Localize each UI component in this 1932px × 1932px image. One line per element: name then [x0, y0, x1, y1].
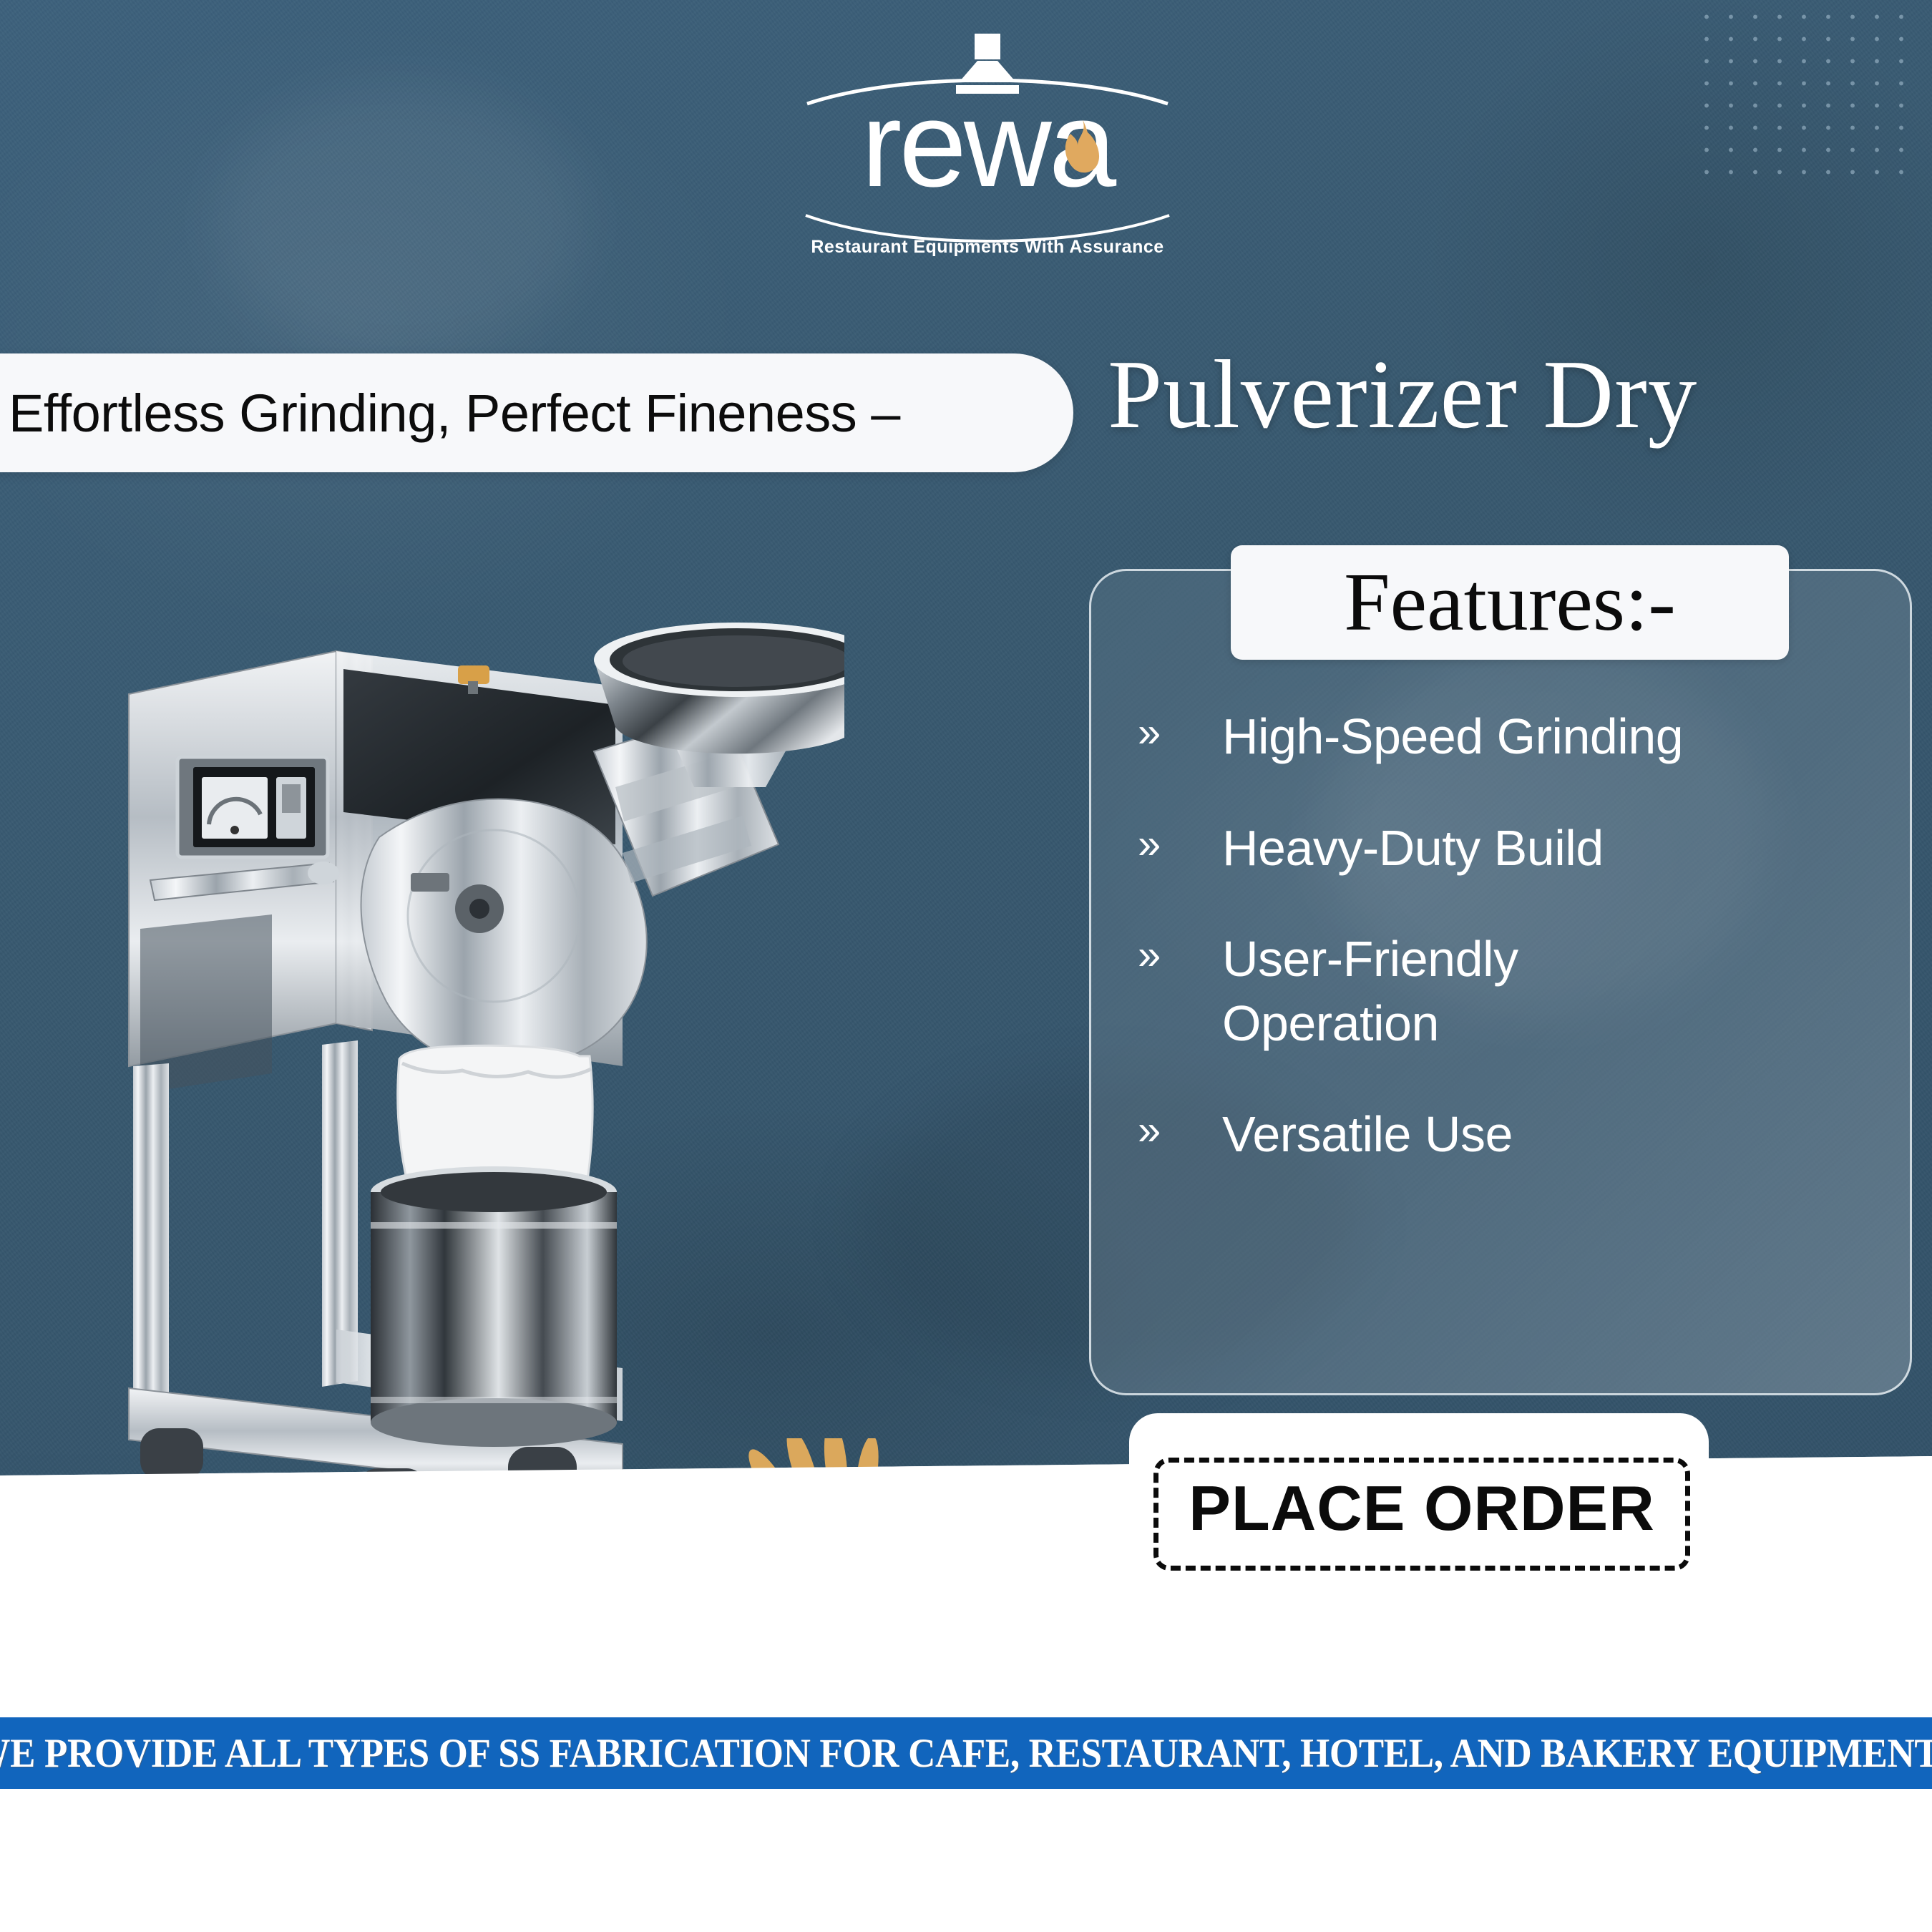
product-title: Pulverizer Dry: [1108, 343, 1923, 447]
brand-tagline: Restaurant Equipments With Assurance: [801, 237, 1174, 258]
services-strip-text: WE PROVIDE ALL TYPES OF SS FABRICATION F…: [0, 1730, 1932, 1777]
brand-logo: rewa Restaurant Equipments With Assuranc…: [801, 32, 1174, 268]
flame-icon: [1059, 118, 1103, 177]
contact-bar: +91-7879990889 +91-9893093680 +91-94248 …: [0, 1789, 1932, 1932]
feature-label: User-Friendly Operation: [1222, 927, 1623, 1055]
services-strip: WE PROVIDE ALL TYPES OF SS FABRICATION F…: [0, 1717, 1932, 1789]
features-heading-text: Features:-: [1344, 561, 1676, 644]
feature-item: » Versatile Use: [1138, 1103, 1903, 1167]
place-order-label: PLACE ORDER: [1189, 1472, 1655, 1545]
hero-tagline-text: Effortless Grinding, Perfect Fineness –: [0, 383, 900, 444]
feature-item: » Heavy-Duty Build: [1138, 816, 1903, 881]
pulverizer-illustration: [122, 572, 844, 1531]
feature-label: High-Speed Grinding: [1222, 705, 1683, 769]
double-chevron-icon: »: [1138, 705, 1222, 753]
feature-item: » User-Friendly Operation: [1138, 927, 1903, 1055]
feature-item: » High-Speed Grinding: [1138, 705, 1903, 769]
feature-label: Heavy-Duty Build: [1222, 816, 1604, 881]
place-order-button[interactable]: PLACE ORDER: [1153, 1458, 1690, 1571]
poster-canvas: rewa Restaurant Equipments With Assuranc…: [0, 0, 1932, 1932]
double-chevron-icon: »: [1138, 1103, 1222, 1151]
features-list: » High-Speed Grinding » Heavy-Duty Build…: [1138, 705, 1903, 1214]
brand-wordmark: rewa: [801, 84, 1174, 205]
feature-label: Versatile Use: [1222, 1103, 1513, 1167]
double-chevron-icon: »: [1138, 816, 1222, 865]
product-image-pulverizer: [122, 572, 844, 1531]
features-heading-badge: Features:-: [1231, 545, 1789, 660]
hero-tagline-pill: Effortless Grinding, Perfect Fineness –: [0, 353, 1073, 472]
wall-blotch: [215, 86, 587, 358]
double-chevron-icon: »: [1138, 927, 1222, 976]
dot-grid-decoration: [1694, 6, 1923, 185]
